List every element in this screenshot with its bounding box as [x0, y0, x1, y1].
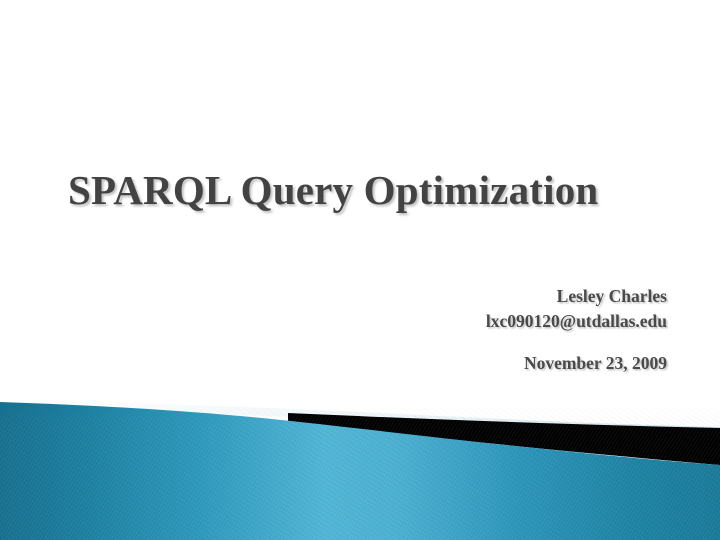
- presentation-date: November 23, 2009: [247, 351, 667, 376]
- presentation-slide: SPARQL Query Optimization Lesley Charles…: [0, 0, 720, 540]
- bottom-wave-decoration: [0, 375, 720, 540]
- author-email: lxc090120@utdallas.edu: [247, 309, 667, 334]
- wave-shapes: [0, 375, 720, 540]
- author-name: Lesley Charles: [247, 284, 667, 309]
- subtitle-block: Lesley Charles lxc090120@utdallas.edu No…: [247, 284, 667, 376]
- title-block: SPARQL Query Optimization: [68, 168, 668, 213]
- subtitle-spacer: [247, 334, 667, 351]
- page-title: SPARQL Query Optimization: [68, 168, 668, 213]
